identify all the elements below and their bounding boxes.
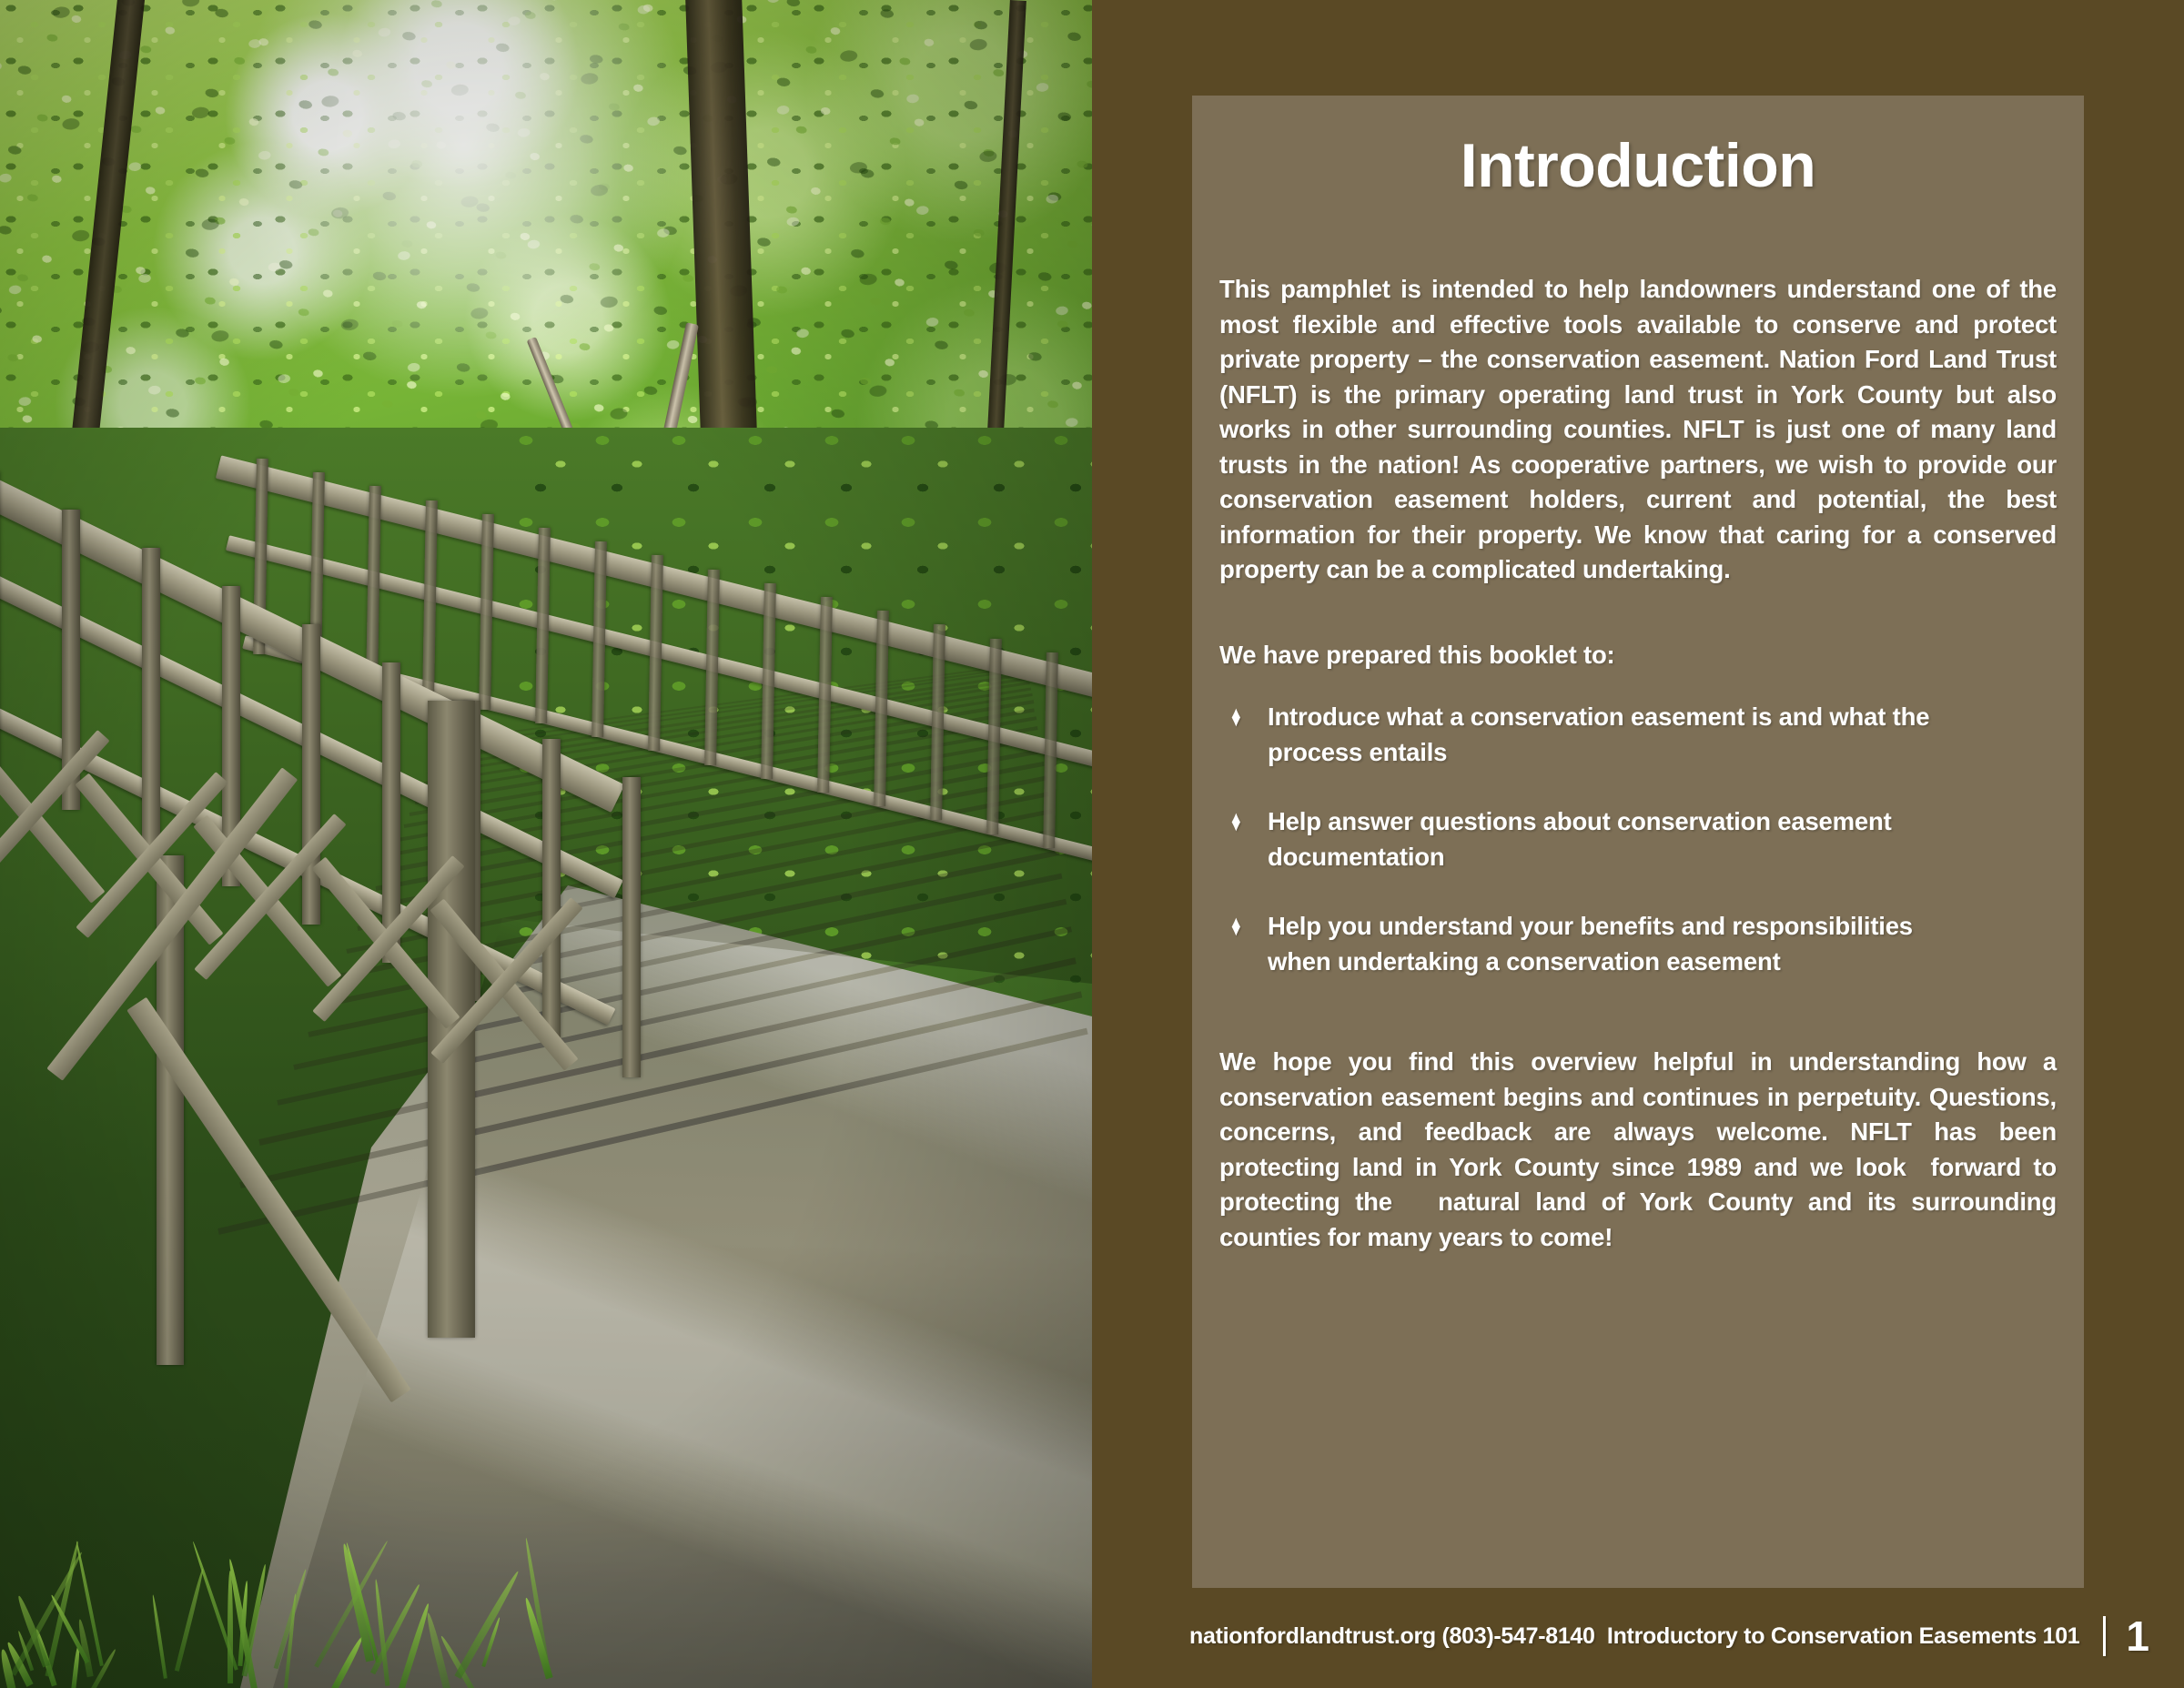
list-item-last-line: when undertaking a conservation easement	[1268, 945, 2057, 980]
pamphlet-page: Introduction This pamphlet is intended t…	[0, 0, 2184, 1688]
list-item-line: Introduce what a conservation easement i…	[1268, 702, 1929, 731]
list-item-last-line: documentation	[1268, 840, 2057, 875]
list-item-line: Help you understand your benefits and re…	[1268, 912, 1913, 940]
intro-paragraph: This pamphlet is intended to help landow…	[1219, 272, 2057, 588]
footer-divider	[2103, 1616, 2106, 1656]
list-item: ♦ Help you understand your benefits and …	[1219, 909, 2057, 979]
list-item-text: Introduce what a conservation easement i…	[1268, 700, 2057, 770]
list-item: ♦ Help answer questions about conservati…	[1219, 804, 2057, 874]
diamond-bullet-icon: ♦	[1231, 803, 1258, 842]
page-title: Introduction	[1192, 96, 2084, 201]
content-panel: Introduction This pamphlet is intended t…	[1192, 96, 2084, 1588]
diamond-bullet-icon: ♦	[1231, 698, 1258, 737]
photo-canvas	[0, 0, 1092, 1688]
list-item-line: Help answer questions about conservation…	[1268, 807, 1892, 835]
panel-body: This pamphlet is intended to help landow…	[1192, 272, 2084, 1255]
list-item-text: Help you understand your benefits and re…	[1268, 909, 2057, 979]
booklet-lead-in: We have prepared this booklet to:	[1219, 638, 2057, 673]
list-item: ♦ Introduce what a conservation easement…	[1219, 700, 2057, 770]
page-number: 1	[2126, 1615, 2166, 1657]
list-item-text: Help answer questions about conservation…	[1268, 804, 2057, 874]
diamond-bullet-icon: ♦	[1231, 907, 1258, 946]
spacer	[1219, 588, 2057, 638]
photo-vignette	[0, 0, 1092, 1688]
bullet-list: ♦ Introduce what a conservation easement…	[1219, 700, 2057, 979]
spacer	[1219, 1014, 2057, 1045]
list-item-last-line: process entails	[1268, 735, 2057, 771]
closing-paragraph: We hope you find this overview helpful i…	[1219, 1045, 2057, 1255]
footer-contact-text: nationfordlandtrust.org (803)-547-8140 I…	[1189, 1623, 2079, 1650]
page-footer: nationfordlandtrust.org (803)-547-8140 I…	[1147, 1609, 2166, 1663]
forest-boardwalk-photo	[0, 0, 1092, 1688]
